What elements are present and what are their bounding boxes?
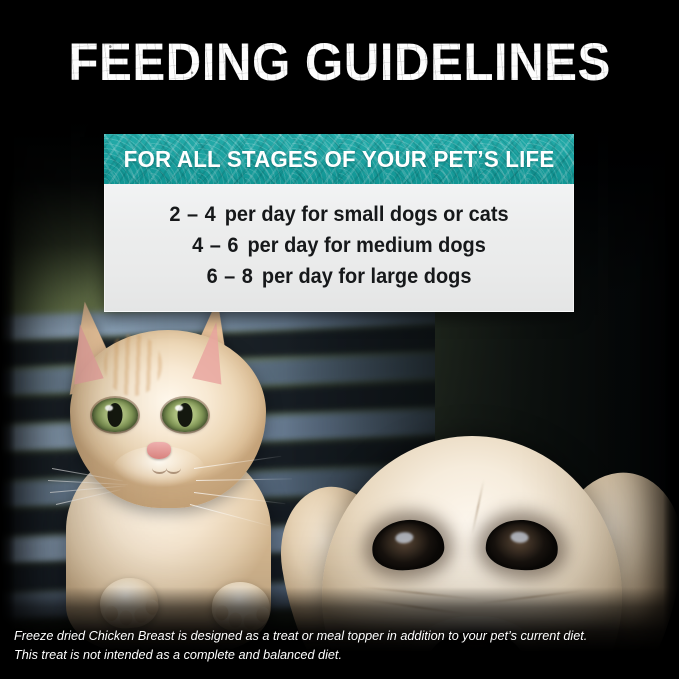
kitten-mouth-left <box>152 462 167 474</box>
guideline-row: 6 – 8per day for large dogs <box>117 262 562 293</box>
guideline-text: per day for small dogs or cats <box>225 203 509 226</box>
guidelines-card-header: FOR ALL STAGES OF YOUR PET’S LIFE <box>104 134 574 184</box>
page-title: FEEDING GUIDELINES <box>0 36 679 89</box>
guideline-text: per day for medium dogs <box>247 234 485 257</box>
guidelines-card-body: 2 – 4per day for small dogs or cats 4 – … <box>104 184 574 312</box>
guideline-range: 4 – 6 <box>192 234 239 257</box>
kitten-eye-right <box>162 398 208 432</box>
disclaimer-line-2: This treat is not intended as a complete… <box>14 645 639 665</box>
guideline-row: 4 – 6per day for medium dogs <box>117 231 562 262</box>
disclaimer-line-1: Freeze dried Chicken Breast is designed … <box>14 626 639 646</box>
guideline-text: per day for large dogs <box>262 265 472 288</box>
guideline-range: 2 – 4 <box>169 203 216 226</box>
guideline-range: 6 – 8 <box>207 265 254 288</box>
feeding-guidelines-panel: FEEDING GUIDELINES FOR ALL STAGES OF YOU… <box>0 0 679 679</box>
guidelines-card: FOR ALL STAGES OF YOUR PET’S LIFE 2 – 4p… <box>104 134 574 312</box>
kitten-mouth-right <box>166 462 181 474</box>
guideline-row: 2 – 4per day for small dogs or cats <box>117 200 562 231</box>
page-title-text: FEEDING GUIDELINES <box>68 36 610 89</box>
kitten-nose <box>147 442 171 459</box>
guidelines-card-header-text: FOR ALL STAGES OF YOUR PET’S LIFE <box>124 146 555 173</box>
kitten-forehead-stripes <box>104 334 162 396</box>
pet-photo-background <box>0 0 679 679</box>
kitten-eye-left <box>92 398 138 432</box>
disclaimer: Freeze dried Chicken Breast is designed … <box>0 626 679 679</box>
kitten-subject <box>8 292 324 640</box>
